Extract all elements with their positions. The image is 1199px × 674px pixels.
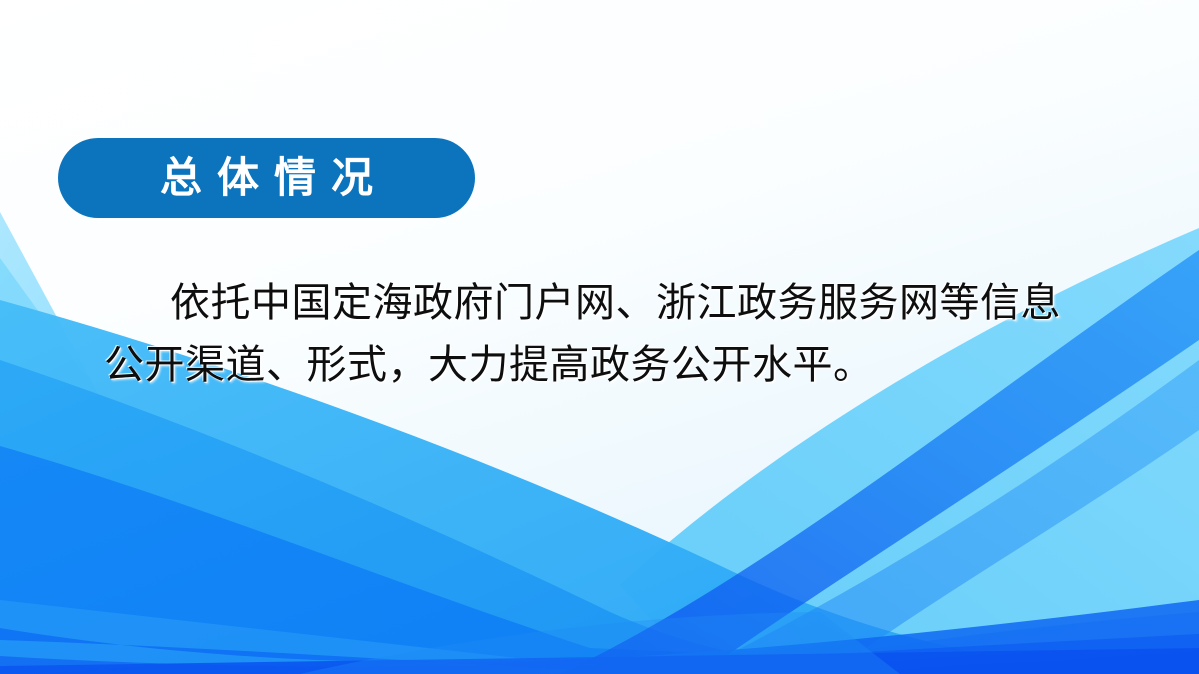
section-title-badge: 总体情况: [58, 138, 475, 218]
body-paragraph: 依托中国定海政府门户网、浙江政务服务网等信息 公开渠道、形式，大力提高政务公开水…: [104, 272, 1114, 396]
body-line-1: 依托中国定海政府门户网、浙江政务服务网等信息: [104, 272, 1114, 334]
section-title-label: 总体情况: [58, 157, 475, 199]
body-line-2: 公开渠道、形式，大力提高政务公开水平。: [104, 334, 1114, 396]
slide-canvas: 总体情况 依托中国定海政府门户网、浙江政务服务网等信息 公开渠道、形式，大力提高…: [0, 0, 1199, 674]
